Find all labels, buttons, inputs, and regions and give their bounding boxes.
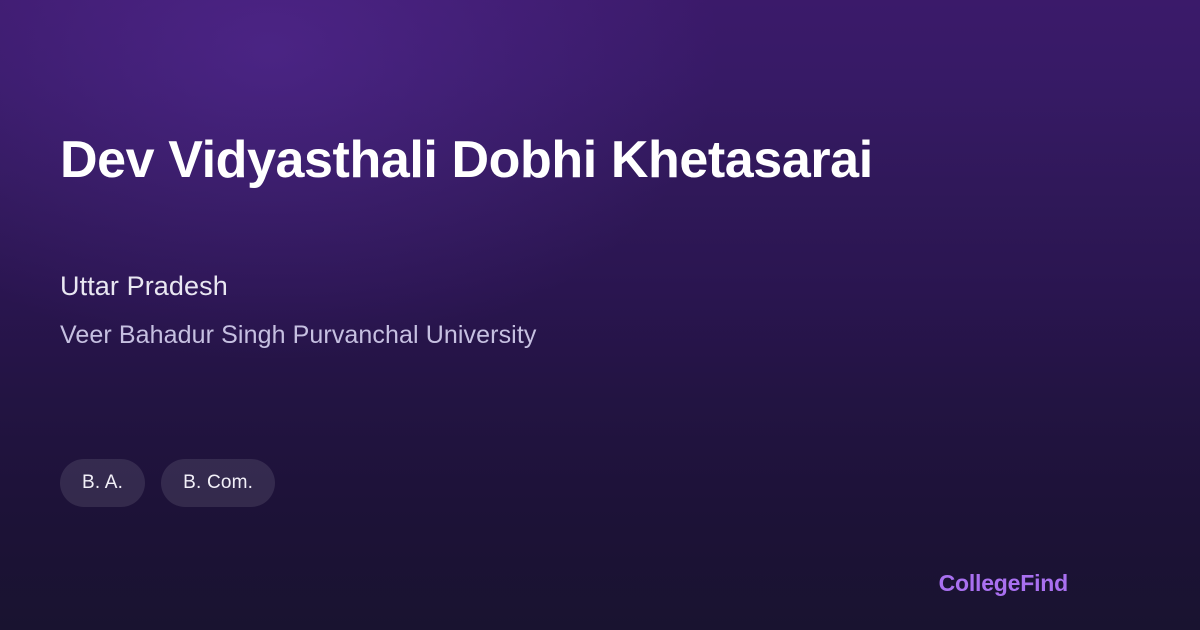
college-og-card: Dev Vidyasthali Dobhi Khetasarai Uttar P… bbox=[0, 0, 1200, 630]
card-content: Dev Vidyasthali Dobhi Khetasarai Uttar P… bbox=[60, 0, 1140, 630]
course-badge-bcom: B. Com. bbox=[161, 459, 275, 507]
state-label: Uttar Pradesh bbox=[60, 268, 1060, 304]
college-meta: Uttar Pradesh Veer Bahadur Singh Purvanc… bbox=[60, 268, 1060, 352]
brand-logo-text: CollegeFind bbox=[939, 569, 1068, 597]
course-badge-ba: B. A. bbox=[60, 459, 145, 507]
college-name-title: Dev Vidyasthali Dobhi Khetasarai bbox=[60, 127, 873, 193]
affiliated-university-label: Veer Bahadur Singh Purvanchal University bbox=[60, 319, 1060, 352]
course-badge-list: B. A. B. Com. bbox=[60, 459, 275, 507]
